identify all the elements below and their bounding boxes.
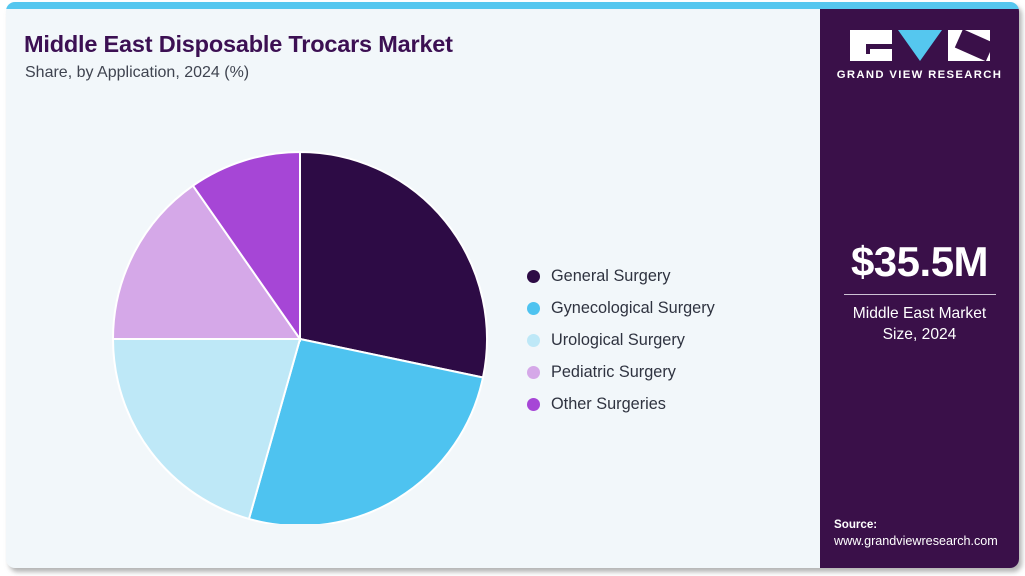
legend-item-general-surgery[interactable]: General Surgery	[527, 261, 807, 293]
legend-label-other-surgeries: Other Surgeries	[551, 395, 666, 414]
source-block: Source: www.grandviewresearch.com	[834, 516, 998, 550]
market-size-caption: Middle East Market Size, 2024	[820, 304, 1019, 345]
market-size-stat: $35.5M Middle East Market Size, 2024	[820, 241, 1019, 345]
pie-chart	[107, 138, 493, 524]
legend-swatch-pediatric-surgery	[527, 366, 540, 379]
chart-legend: General Surgery Gynecological Surgery Ur…	[527, 261, 807, 420]
brand-logo[interactable]: GRAND VIEW RESEARCH	[820, 30, 1019, 81]
page-subtitle: Share, by Application, 2024 (%)	[25, 64, 249, 82]
legend-item-other-surgeries[interactable]: Other Surgeries	[527, 388, 807, 420]
legend-item-pediatric-surgery[interactable]: Pediatric Surgery	[527, 356, 807, 388]
legend-swatch-general-surgery	[527, 270, 540, 283]
brand-panel: GRAND VIEW RESEARCH $35.5M Middle East M…	[820, 9, 1019, 568]
source-url[interactable]: www.grandviewresearch.com	[834, 533, 998, 550]
top-accent-bar	[6, 2, 1019, 9]
legend-item-urological-surgery[interactable]: Urological Surgery	[527, 325, 807, 357]
legend-label-general-surgery: General Surgery	[551, 267, 670, 286]
pie-slice-group	[113, 152, 487, 524]
legend-label-pediatric-surgery: Pediatric Surgery	[551, 363, 676, 382]
pie-slice[interactable]	[300, 152, 487, 378]
source-label: Source:	[834, 516, 998, 533]
legend-item-gynecological-surgery[interactable]: Gynecological Surgery	[527, 293, 807, 325]
logo-marks	[850, 30, 990, 61]
legend-label-urological-surgery: Urological Surgery	[551, 331, 685, 350]
logo-letter-v-icon	[898, 30, 942, 61]
chart-card: Middle East Disposable Trocars Market Sh…	[6, 2, 1019, 568]
market-size-value: $35.5M	[820, 241, 1019, 283]
legend-swatch-gynecological-surgery	[527, 302, 540, 315]
logo-wordmark: GRAND VIEW RESEARCH	[837, 69, 1003, 81]
chart-pane: Middle East Disposable Trocars Market Sh…	[6, 9, 820, 568]
legend-swatch-other-surgeries	[527, 398, 540, 411]
legend-swatch-urological-surgery	[527, 334, 540, 347]
legend-label-gynecological-surgery: Gynecological Surgery	[551, 299, 715, 318]
logo-letter-r-icon	[948, 30, 990, 61]
stat-divider	[844, 294, 996, 295]
pie-chart-svg	[107, 138, 493, 524]
logo-letter-g-icon	[850, 30, 892, 61]
page-title: Middle East Disposable Trocars Market	[24, 31, 453, 58]
